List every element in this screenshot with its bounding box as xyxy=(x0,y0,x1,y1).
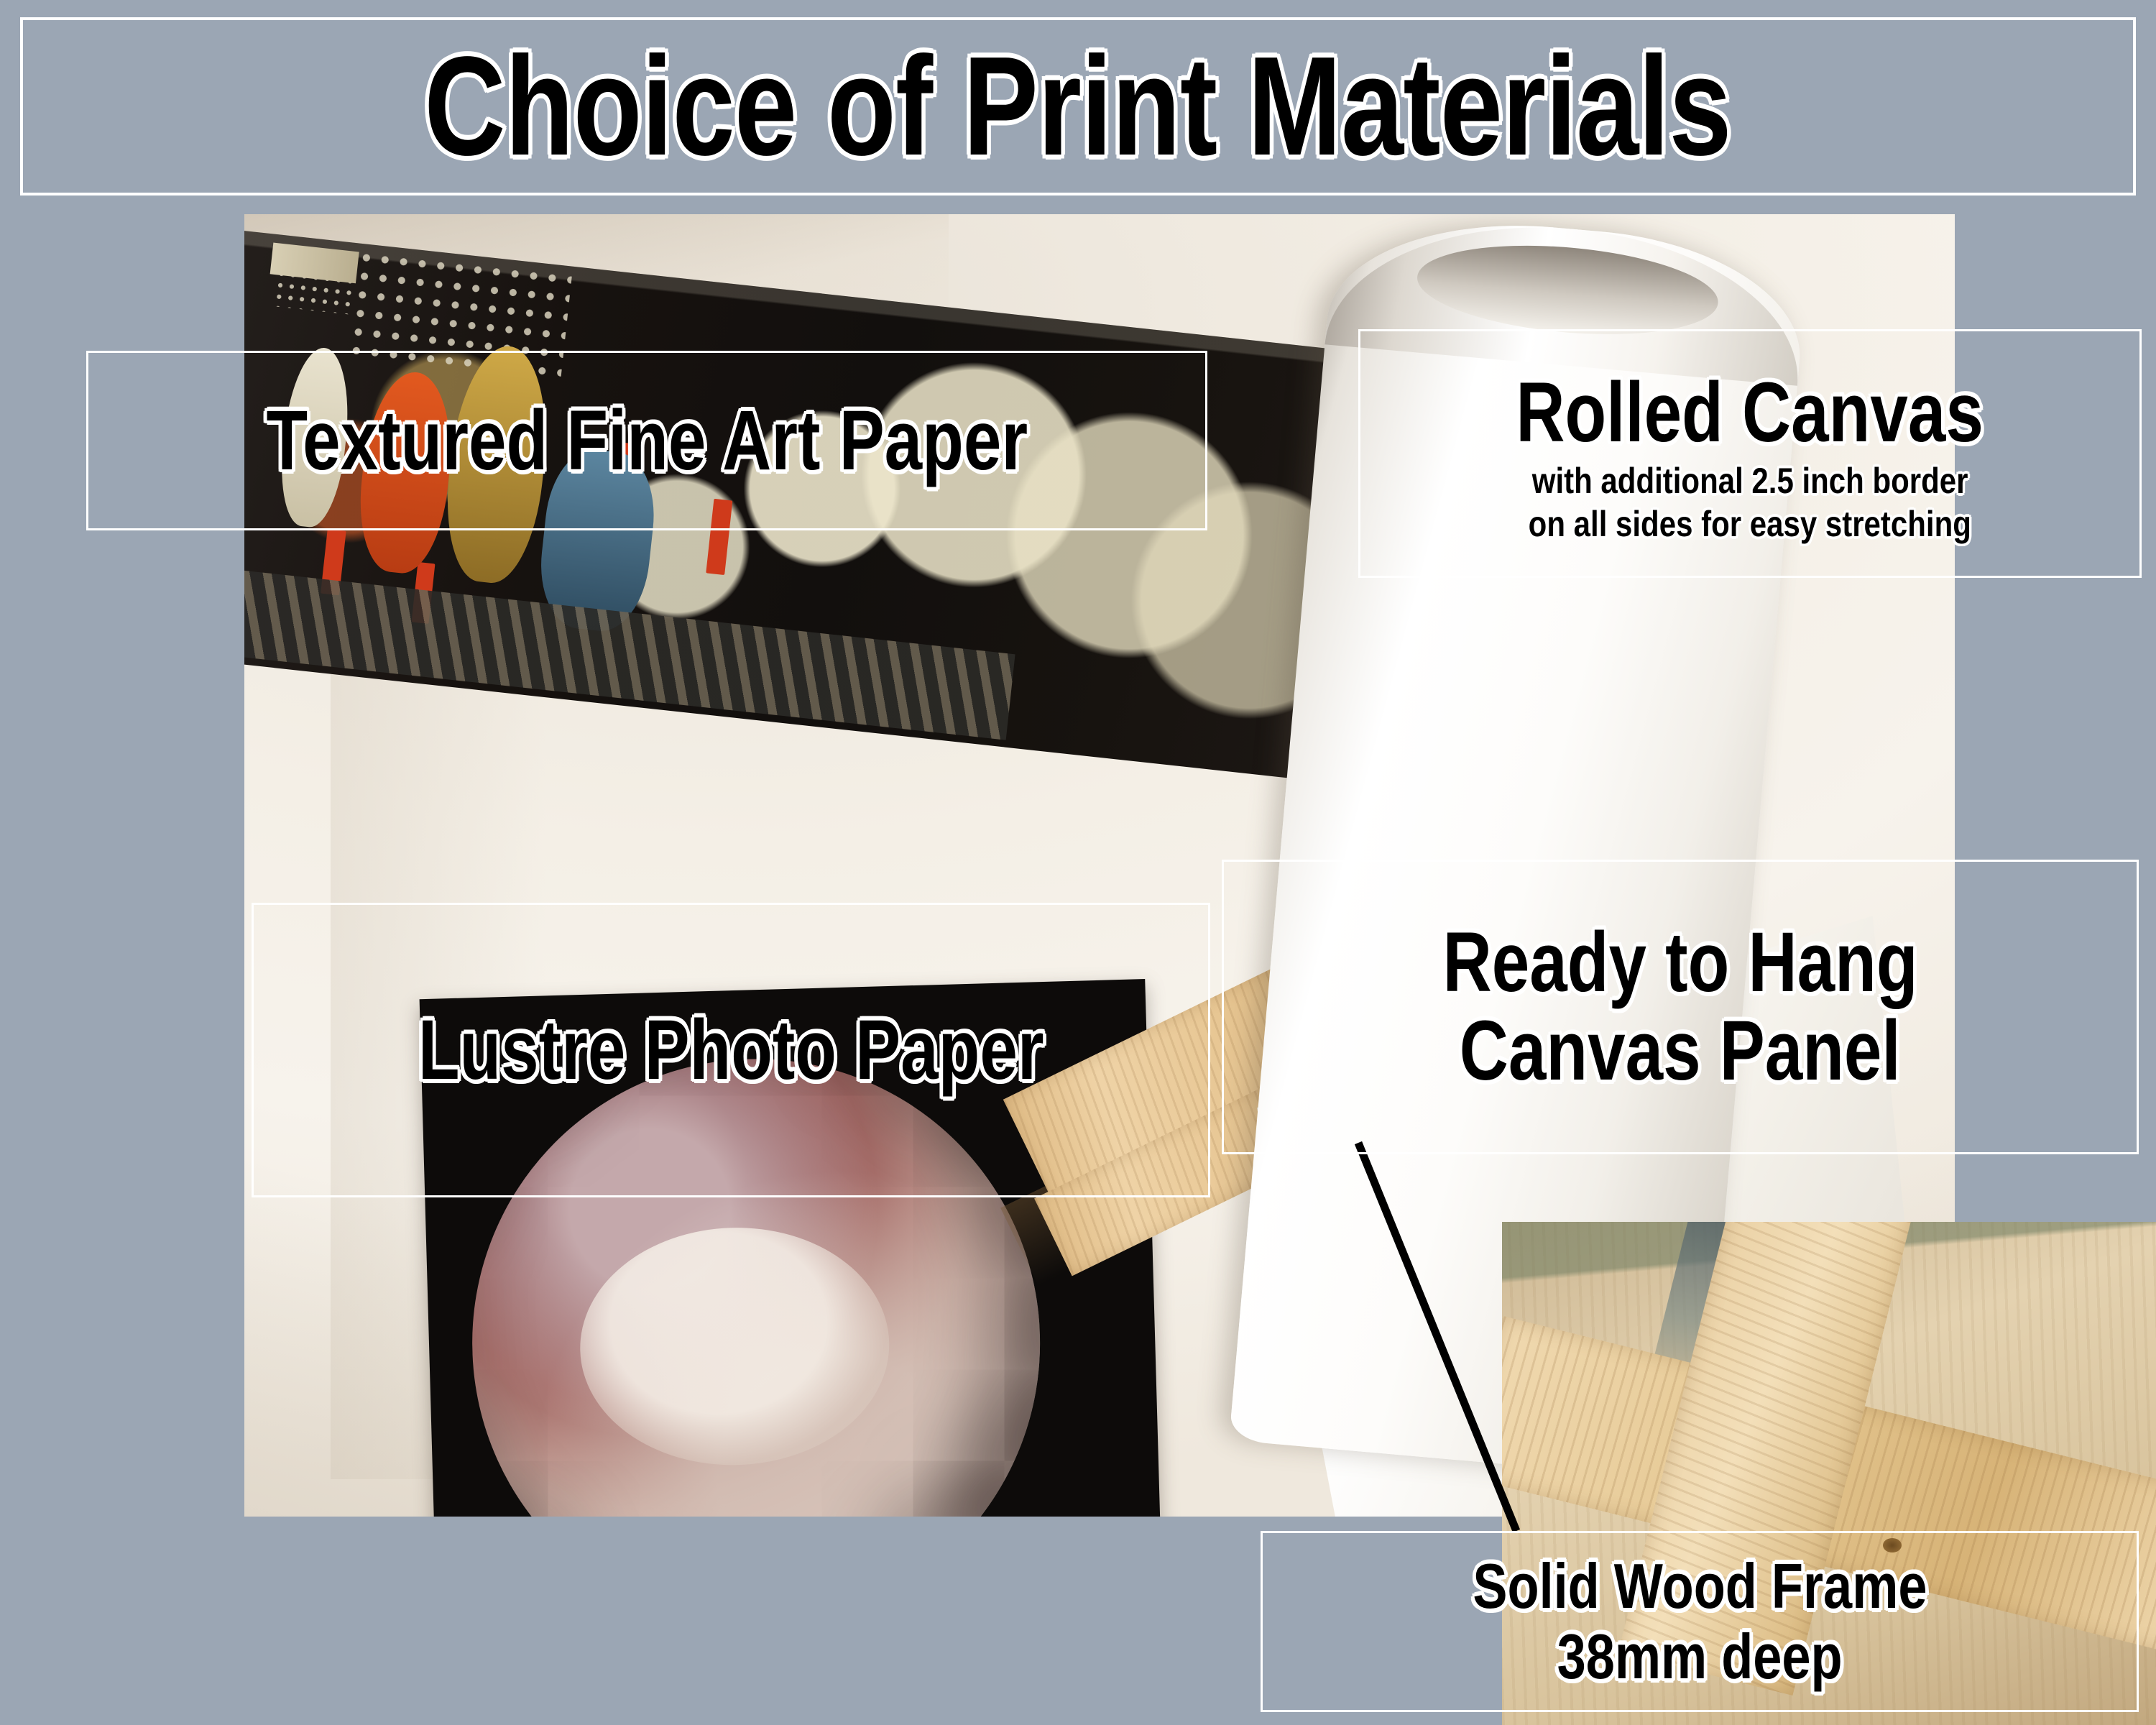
callout-ready-to-hang-canvas-panel: Ready to Hang Canvas Panel xyxy=(1222,860,2139,1154)
callout-title: Textured Fine Art Paper xyxy=(266,397,1028,485)
callout-subtitle-line-2: on all sides for easy stretching xyxy=(1529,505,1971,543)
callout-solid-wood-frame: Solid Wood Frame 38mm deep xyxy=(1261,1531,2139,1712)
callout-title: Rolled Canvas xyxy=(1516,369,1984,457)
callout-title-line-1: Ready to Hang xyxy=(1443,919,1918,1007)
callout-title: Lustre Photo Paper xyxy=(418,1006,1044,1095)
callout-title-line-2: Canvas Panel xyxy=(1460,1007,1901,1095)
callout-lustre-photo-paper: Lustre Photo Paper xyxy=(252,903,1210,1197)
title-banner: Choice of Print Materials xyxy=(20,17,2136,195)
callout-textured-fine-art-paper: Textured Fine Art Paper xyxy=(86,351,1207,530)
callout-subtitle-line-1: with additional 2.5 inch border xyxy=(1532,462,1968,500)
callout-title-line-2: 38mm deep xyxy=(1557,1624,1842,1690)
page-title: Choice of Print Materials xyxy=(425,36,1731,177)
callout-rolled-canvas: Rolled Canvas with additional 2.5 inch b… xyxy=(1358,329,2142,578)
callout-title-line-1: Solid Wood Frame xyxy=(1473,1553,1927,1619)
